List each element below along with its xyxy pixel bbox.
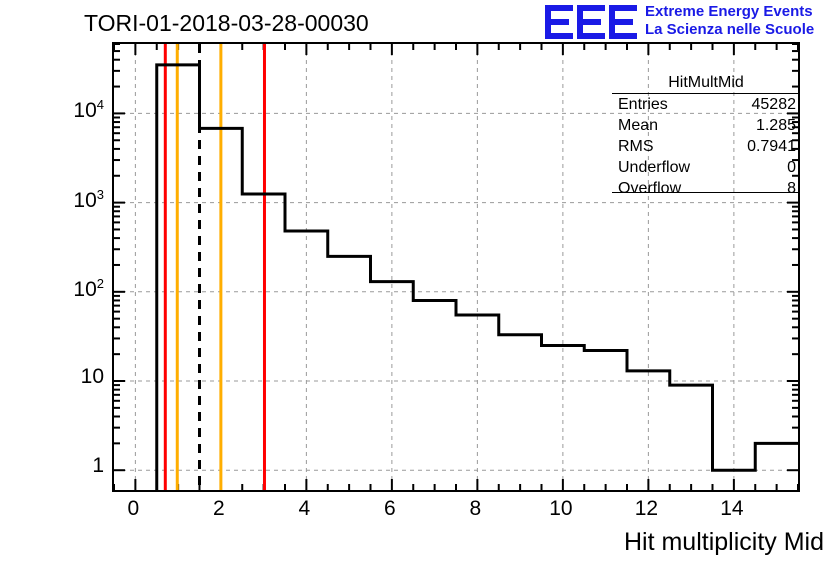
page-title: TORI-01-2018-03-28-00030 — [84, 10, 369, 37]
eee-logo-line1: Extreme Energy Events — [645, 3, 813, 20]
x-tick-label-6: 12 — [616, 497, 676, 521]
eee-logo: Extreme Energy Events La Scienza nelle S… — [545, 2, 833, 42]
x-tick-label-3: 6 — [360, 497, 420, 521]
stats-row-underflow: Underflow0 — [612, 157, 800, 178]
x-axis-title: Hit multiplicity Mid — [624, 528, 824, 557]
y-tick-label-0: 1 — [20, 454, 104, 478]
root-canvas: TORI-01-2018-03-28-00030 — [0, 0, 836, 572]
y-tick-label-1: 10 — [20, 365, 104, 389]
stats-row-mean: Mean1.285 — [612, 115, 800, 136]
stats-value: 1.285 — [756, 116, 796, 135]
stats-key: Underflow — [618, 158, 690, 177]
stats-value: 8 — [787, 179, 796, 198]
stats-box: HitMultMid Entries45282Mean1.285RMS0.794… — [612, 74, 800, 199]
y-tick-label-4: 104 — [20, 97, 104, 123]
x-tick-label-7: 14 — [702, 497, 762, 521]
eee-logo-mark — [545, 5, 640, 39]
stats-value: 45282 — [752, 95, 797, 114]
x-tick-label-0: 0 — [103, 497, 163, 521]
stats-row-overflow: Overflow8 — [612, 178, 800, 199]
stats-title: HitMultMid — [612, 74, 800, 94]
x-tick-label-2: 4 — [274, 497, 334, 521]
stats-value: 0 — [787, 158, 796, 177]
y-tick-label-3: 103 — [20, 187, 104, 213]
stats-key: Overflow — [618, 179, 681, 198]
eee-letters-icon — [545, 5, 640, 39]
eee-logo-text: Extreme Energy Events La Scienza nelle S… — [645, 3, 814, 39]
stats-value: 0.7941 — [747, 137, 796, 156]
y-tick-label-2: 102 — [20, 276, 104, 302]
stats-bottom-rule — [612, 192, 800, 193]
x-tick-label-4: 8 — [445, 497, 505, 521]
stats-row-rms: RMS0.7941 — [612, 136, 800, 157]
x-tick-label-5: 10 — [531, 497, 591, 521]
stats-key: Mean — [618, 116, 658, 135]
stats-row-entries: Entries45282 — [612, 94, 800, 115]
x-tick-label-1: 2 — [189, 497, 249, 521]
stats-key: RMS — [618, 137, 654, 156]
stats-rows: Entries45282Mean1.285RMS0.7941Underflow0… — [612, 94, 800, 199]
stats-key: Entries — [618, 95, 668, 114]
eee-logo-line2: La Scienza nelle Scuole — [645, 21, 814, 39]
